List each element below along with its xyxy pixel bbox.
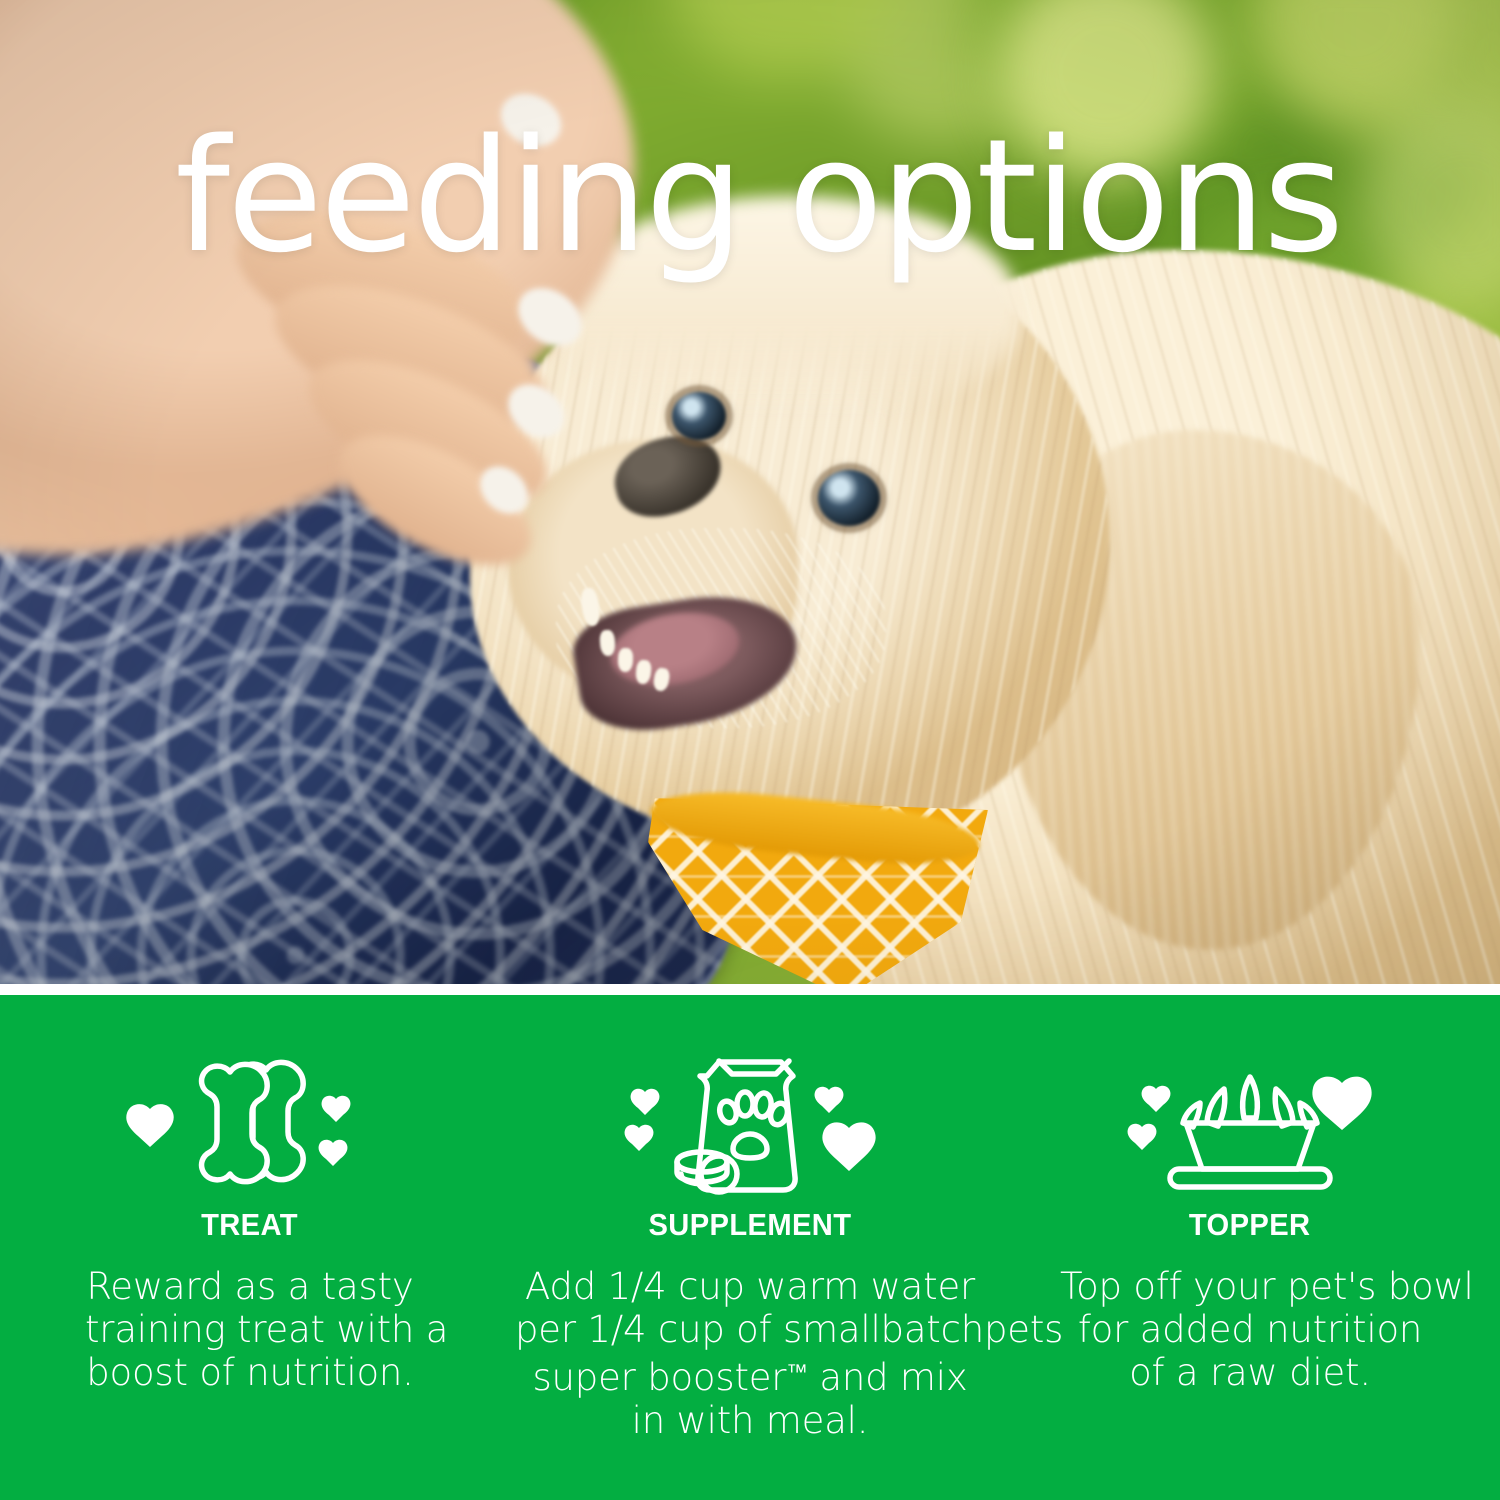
hero-photo: feeding options [0, 0, 1500, 984]
feeding-option-body: Top off your pet's bowl for added nutrit… [1060, 1265, 1440, 1394]
feeding-option-heading: SUPPLEMENT [649, 1207, 852, 1243]
food-bag-paw-hearts-icon [615, 1051, 885, 1201]
page-title: feeding options [175, 118, 1341, 274]
feeding-option-topper: TOPPER Top off your pet's bowl for added… [1000, 995, 1500, 1500]
feeding-option-supplement: SUPPLEMENT Add 1/4 cup warm water per 1/… [500, 995, 1000, 1500]
dog-bone-hearts-icon [120, 1051, 380, 1201]
food-bowl-hearts-icon [1120, 1051, 1380, 1201]
feeding-option-heading: TOPPER [1189, 1207, 1311, 1243]
supplement-line-3: super booster™ and mix [515, 1351, 985, 1399]
feeding-options-panel: TREAT Reward as a tasty training treat w… [0, 995, 1500, 1500]
feeding-option-heading: TREAT [202, 1207, 299, 1243]
feeding-option-body: Add 1/4 cup warm water per 1/4 cup of sm… [515, 1265, 985, 1442]
feeding-option-body: Reward as a tasty training treat with a … [85, 1265, 415, 1394]
feeding-options-columns: TREAT Reward as a tasty training treat w… [0, 995, 1500, 1500]
feeding-option-treat: TREAT Reward as a tasty training treat w… [0, 995, 500, 1500]
feeding-options-infographic: feeding options [0, 0, 1500, 1500]
trademark-symbol: ™ [786, 1360, 807, 1385]
